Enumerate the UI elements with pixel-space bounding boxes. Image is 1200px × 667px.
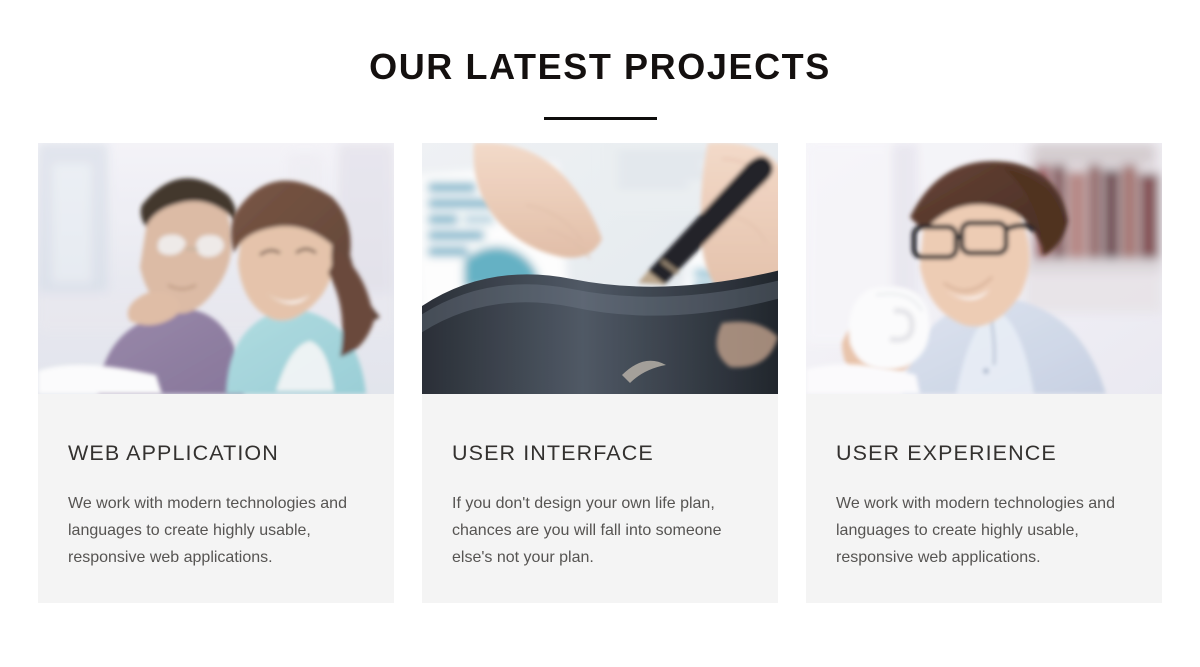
hands-pen-charts-tablet-photo	[422, 143, 778, 394]
section-header: OUR LATEST PROJECTS	[0, 44, 1200, 120]
card-body: USER EXPERIENCE We work with modern tech…	[806, 394, 1162, 603]
projects-section: OUR LATEST PROJECTS	[0, 0, 1200, 667]
project-card[interactable]: WEB APPLICATION We work with modern tech…	[38, 143, 394, 603]
card-description: We work with modern technologies and lan…	[68, 490, 364, 571]
card-description: If you don't design your own life plan, …	[452, 490, 748, 571]
card-description: We work with modern technologies and lan…	[836, 490, 1132, 571]
page-title: OUR LATEST PROJECTS	[0, 44, 1200, 90]
project-card-grid: WEB APPLICATION We work with modern tech…	[38, 143, 1162, 603]
card-title: USER EXPERIENCE	[836, 440, 1132, 466]
project-card[interactable]: USER EXPERIENCE We work with modern tech…	[806, 143, 1162, 603]
project-card[interactable]: USER INTERFACE If you don't design your …	[422, 143, 778, 603]
card-title: USER INTERFACE	[452, 440, 748, 466]
card-body: WEB APPLICATION We work with modern tech…	[38, 394, 394, 603]
couple-at-laptop-photo	[38, 143, 394, 394]
card-title: WEB APPLICATION	[68, 440, 364, 466]
card-body: USER INTERFACE If you don't design your …	[422, 394, 778, 603]
title-divider	[544, 117, 657, 120]
man-with-coffee-mug-photo	[806, 143, 1162, 394]
